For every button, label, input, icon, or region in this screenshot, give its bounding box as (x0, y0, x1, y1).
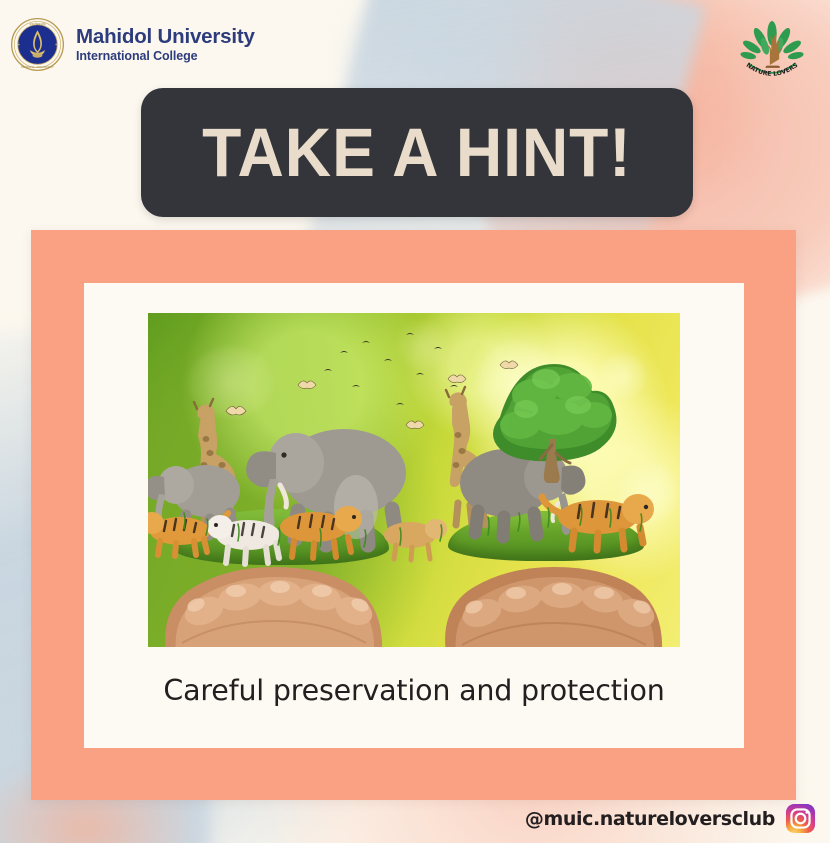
poster-canvas: มหาวิทยาลัย MAHIDOL UNIVERSITY Mahidol U… (0, 0, 830, 843)
cupped-hand-right (442, 503, 666, 647)
university-subtitle: International College (76, 50, 255, 63)
peach-frame: Careful preservation and protection (31, 230, 796, 800)
birds-group (324, 333, 458, 405)
nature-lovers-tree-logo-icon: NATURE LOVERS (736, 16, 808, 88)
svg-text:NATURE LOVERS: NATURE LOVERS (745, 62, 800, 78)
photo-caption: Careful preservation and protection (163, 674, 664, 707)
svg-text:มหาวิทยาลัย: มหาวิทยาลัย (29, 22, 45, 26)
frame-inner-card: Careful preservation and protection (84, 283, 744, 748)
footer-social: @muic.natureloversclub (525, 803, 816, 834)
cupped-hand-left (162, 503, 386, 647)
instagram-icon[interactable] (785, 803, 816, 834)
svg-text:MAHIDOL UNIVERSITY: MAHIDOL UNIVERSITY (21, 65, 54, 69)
university-name: Mahidol University (76, 27, 255, 48)
conservation-photo (148, 313, 680, 647)
lion-cub (384, 519, 447, 560)
poster-title: TAKE A HINT! (202, 118, 631, 187)
instagram-handle: @muic.natureloversclub (525, 808, 775, 830)
mahidol-university-seal-icon: มหาวิทยาลัย MAHIDOL UNIVERSITY (10, 17, 65, 72)
university-brand-lockup: มหาวิทยาลัย MAHIDOL UNIVERSITY Mahidol U… (10, 17, 255, 72)
title-banner: TAKE A HINT! (141, 88, 693, 217)
